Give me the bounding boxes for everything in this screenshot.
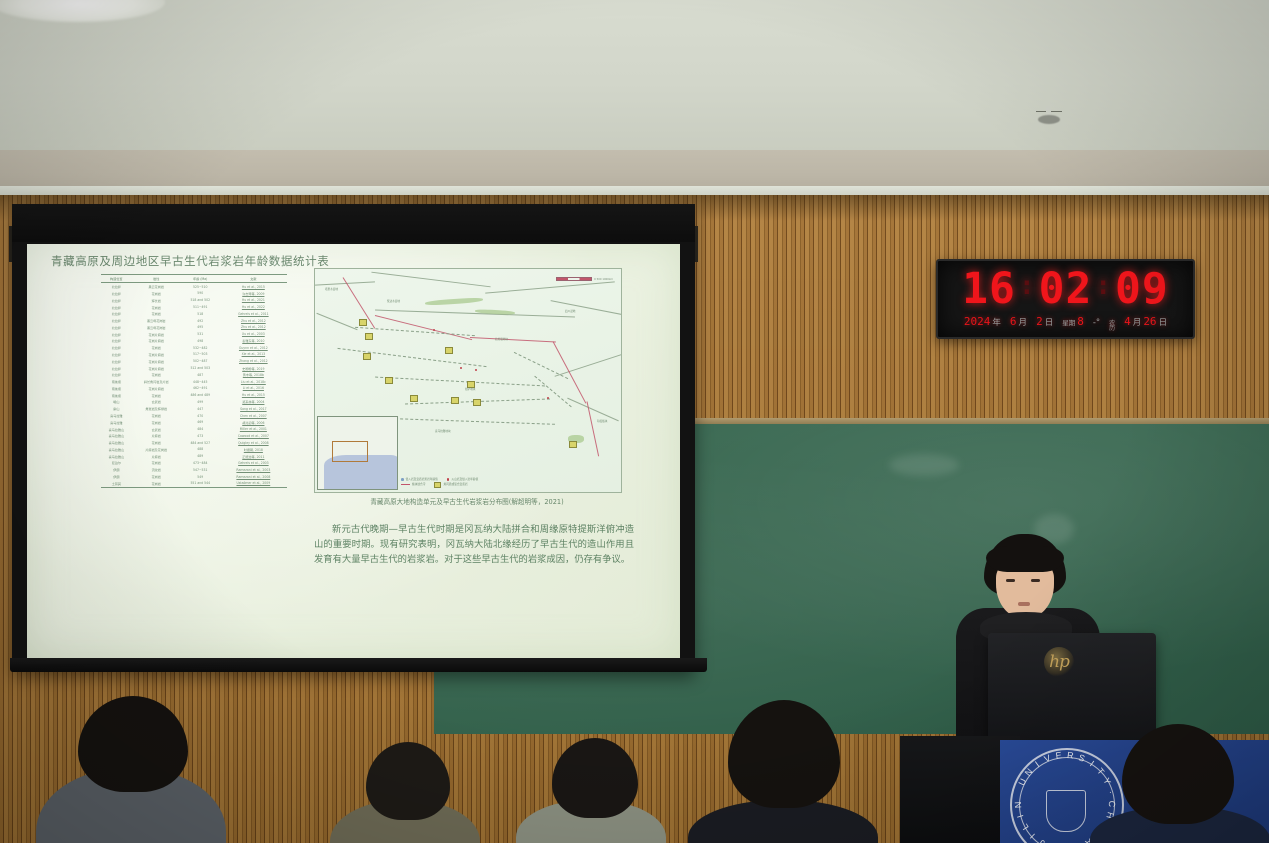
cell-reference: Hu et al., 2021 <box>220 297 287 304</box>
cell-lithology: 花岗岩 <box>132 480 181 487</box>
cell-reference: 郑来林等, 2004 <box>220 399 287 406</box>
cell-lithology: 花岗岩 <box>132 412 181 419</box>
cell-location: 北拉萨 <box>101 338 132 345</box>
cell-lithology: 黑云花岗岩 <box>132 283 181 290</box>
seal-letter: T <box>1095 766 1107 777</box>
clock-weekday-label: 星期 <box>1062 317 1075 327</box>
col-header-age: 年龄 (Ma) <box>181 275 220 283</box>
cell-reference: Zhu et al., 2012 <box>220 324 287 331</box>
cell-age: 486 and 489 <box>181 392 220 399</box>
clock-lunar-month: 4 <box>1124 315 1131 328</box>
ceiling <box>0 0 1269 150</box>
screen-bottom-bar <box>10 658 707 672</box>
table-row: 喜马拉雅山片麻岩489正能治等, 2011 <box>101 453 287 460</box>
map-inset-locator <box>317 416 398 490</box>
legend-square-icon <box>434 482 441 488</box>
clock-lunar-label: 农 历 <box>1109 321 1115 332</box>
cell-location: 土耳其 <box>101 480 132 487</box>
cell-lithology: 花岗岩 <box>132 392 181 399</box>
cell-age: 484 <box>181 426 220 433</box>
seal-letter: I <box>1015 813 1026 819</box>
cell-age: 549 <box>181 473 220 480</box>
cell-reference: Gehrels et al., 2003 <box>220 460 287 467</box>
table-row: 喜马拉雅花岗岩469胡兆初等, 2006 <box>101 419 287 426</box>
cell-age: 470 <box>181 412 220 419</box>
presenter-eye-right <box>1031 579 1040 582</box>
cell-age: 517~503 <box>181 351 220 358</box>
seal-letter: S <box>1077 752 1087 764</box>
presenter-mouth <box>1018 602 1030 606</box>
cell-reference: Hu et al., 2022 <box>220 304 287 311</box>
cell-lithology: 花岗片麻岩 <box>132 365 181 372</box>
clock-hours: 16 <box>962 264 1016 314</box>
cell-reference: Zhu et al., 2012 <box>220 317 287 324</box>
cell-lithology: 黑云母花岗岩 <box>132 317 181 324</box>
hp-logo-icon: hp <box>1044 647 1074 677</box>
clock-lunar-day: 26 <box>1143 315 1156 328</box>
table-body: 北拉萨黑云花岗岩525~510Hu et al., 2015北拉萨花岗岩590许… <box>101 283 287 487</box>
cell-location: 喜马拉雅山 <box>101 453 132 460</box>
clock-colon-icon: : <box>1019 271 1036 301</box>
cell-location: 喜马拉雅山 <box>101 446 132 453</box>
cell-lithology: 黑云母花岗岩 <box>132 324 181 331</box>
legend-item: 板块缝合带 <box>401 482 425 488</box>
cell-reference: Ramezani et al., 2008 <box>220 473 287 480</box>
clock-seconds: 09 <box>1115 264 1169 314</box>
cell-lithology: 辉长岩 <box>132 297 181 304</box>
seal-letter: L <box>1019 821 1031 831</box>
cell-reference: Cawood et al., 2007 <box>220 432 287 439</box>
cell-location: 北拉萨 <box>101 365 132 372</box>
clock-minutes: 02 <box>1039 264 1093 314</box>
legend-item: 角闪质或混合变质岩 <box>434 482 467 488</box>
cell-lithology: 玄武岩 <box>132 426 181 433</box>
table-row: 察山角斑岩及辉绿岩447Song et al., 2017 <box>101 405 287 412</box>
table-row: 北拉萨花岗岩518Gehrels et al., 2011 <box>101 310 287 317</box>
cell-age: 551 and 544 <box>181 480 220 487</box>
table-row: 喜马拉雅花岗岩470Chen et al., 2007 <box>101 412 287 419</box>
cell-age: 495 <box>181 324 220 331</box>
map-label-region: 四川盆地 <box>565 309 575 313</box>
clock-lunar-month-unit: 月 <box>1133 316 1142 328</box>
cell-reference: Hu et al., 2015 <box>220 283 287 290</box>
cell-lithology: 花岗片麻岩 <box>132 331 181 338</box>
clock-time-display: 16 : 02 : 09 <box>938 264 1193 314</box>
table-row: 喜马拉雅山片麻岩473Cawood et al., 2007 <box>101 432 287 439</box>
seal-letter: I <box>1027 831 1036 841</box>
cell-lithology: 片麻岩及花岗岩 <box>132 446 181 453</box>
seal-letter: N <box>1023 766 1035 778</box>
cell-location: 南羌塘 <box>101 392 132 399</box>
cell-location: 喜马拉雅山 <box>101 426 132 433</box>
cell-reference: Liu et al., 2018c <box>220 378 287 385</box>
cell-age: 448~445 <box>181 378 220 385</box>
cell-location: 北拉萨 <box>101 283 132 290</box>
cell-age: 498 <box>181 338 220 345</box>
cell-location: 南羌塘 <box>101 385 132 392</box>
cell-lithology: 斜长角闪岩及片岩 <box>132 378 181 385</box>
cell-location: 北拉萨 <box>101 344 132 351</box>
cell-location: 喜马拉雅山 <box>101 439 132 446</box>
cell-reference: Ustaömer et al., 2009 <box>220 480 287 487</box>
cell-age: 531 <box>181 331 220 338</box>
projection-screen: 青藏高原及周边地区早古生代岩浆岩年龄数据统计表 构造位置 岩性 年龄 (Ma) … <box>12 204 695 672</box>
table-row: 北拉萨黑云母花岗岩495Zhu et al., 2012 <box>101 324 287 331</box>
seal-letter: N <box>1013 800 1023 808</box>
cell-location: 北拉萨 <box>101 297 132 304</box>
cell-lithology: 花岗岩 <box>132 344 181 351</box>
seal-letter: V <box>1043 752 1053 764</box>
slide-title: 青藏高原及周边地区早古生代岩浆岩年龄数据统计表 <box>51 253 329 269</box>
cell-age: 511~491 <box>181 304 220 311</box>
cell-reference: 黄丰等, 2018b <box>220 371 287 378</box>
cell-location: 喜马拉雅 <box>101 412 132 419</box>
clock-lunar-day-unit: 日 <box>1159 316 1168 328</box>
cell-age: 489 <box>181 453 220 460</box>
cell-location: 北拉萨 <box>101 304 132 311</box>
table-row: 南羌塘斜长角闪岩及片岩448~445Liu et al., 2018c <box>101 378 287 385</box>
cell-age: 512 and 503 <box>181 365 220 372</box>
cell-location: 北拉萨 <box>101 310 132 317</box>
cell-reference: Xie et al., 2013 <box>220 351 287 358</box>
seal-letter: J <box>1037 837 1047 843</box>
cell-lithology: 花岗片麻岩 <box>132 351 181 358</box>
clock-year-unit: 年 <box>992 316 1001 328</box>
screen-valance <box>12 204 695 242</box>
seal-letter: C <box>1107 800 1117 808</box>
presenter-eye-left <box>1006 579 1015 582</box>
table-row: 尼泊尔花岗岩473~484Gehrels et al., 2003 <box>101 460 287 467</box>
cell-lithology: 花岗岩 <box>132 460 181 467</box>
table-row: 北拉萨花岗片麻岩498秦雅东等, 2010 <box>101 338 287 345</box>
cell-lithology: 流纹岩 <box>132 466 181 473</box>
cell-location: 北拉萨 <box>101 331 132 338</box>
cell-age: 525~510 <box>181 283 220 290</box>
cell-location: 北拉萨 <box>101 358 132 365</box>
table-row: 峨山玄武岩499郑来林等, 2004 <box>101 399 287 406</box>
cell-age: 462~491 <box>181 385 220 392</box>
age-data-table: 构造位置 岩性 年龄 (Ma) 文献 北拉萨黑云花岗岩525~510Hu et … <box>101 274 287 488</box>
cell-location: 喜马拉雅山 <box>101 432 132 439</box>
cell-lithology: 花岗岩 <box>132 419 181 426</box>
cell-reference: 许志琴等, 2009 <box>220 290 287 297</box>
cell-reference: 秦雅东等, 2010 <box>220 338 287 345</box>
cell-reference: Guynn et al., 2012 <box>220 344 287 351</box>
col-header-location: 构造位置 <box>101 275 132 283</box>
tectonic-map: 塔里木盆地 柴达木盆地 北羌塘地块 拉萨地块 喜马拉雅地块 四川盆地 印度板块 … <box>314 268 622 493</box>
map-label-region: 塔里木盆地 <box>325 287 338 291</box>
table-row: 北拉萨花岗岩487黄丰等, 2018b <box>101 371 287 378</box>
ceiling-sprinkler-icon <box>1038 110 1060 124</box>
slide-body-text: 新元古代晚期—早古生代时期是冈瓦纳大陆拼合和周缘原特提斯洋俯冲造山的重要时期。现… <box>314 522 634 567</box>
cell-reference: 正能治等, 2011 <box>220 453 287 460</box>
cell-lithology: 花岗岩 <box>132 290 181 297</box>
seal-letter: U <box>1017 776 1029 787</box>
cell-reference: 史盼盼等, 2019 <box>220 365 287 372</box>
cell-lithology: 花岗片麻岩 <box>132 385 181 392</box>
cell-age: 473 <box>181 432 220 439</box>
cell-location: 北拉萨 <box>101 371 132 378</box>
map-label-region: 北羌塘地块 <box>495 337 508 341</box>
cell-lithology: 花岗岩 <box>132 439 181 446</box>
table-header-row: 构造位置 岩性 年龄 (Ma) 文献 <box>101 275 287 283</box>
cell-reference: Quigley et al., 2008 <box>220 439 287 446</box>
cell-age: 473~484 <box>181 460 220 467</box>
cell-age: 499 <box>181 399 220 406</box>
table-row: 伊朗流纹岩547~531Ramezani et al., 2003 <box>101 466 287 473</box>
cell-reference: Zhang et al., 2012 <box>220 358 287 365</box>
clock-day: 2 <box>1036 315 1043 328</box>
cell-age: 487 <box>181 371 220 378</box>
cell-location: 察山 <box>101 405 132 412</box>
table-row: 北拉萨黑云花岗岩525~510Hu et al., 2015 <box>101 283 287 290</box>
table-row: 北拉萨花岗片麻岩531Xu et al., 2003 <box>101 331 287 338</box>
cell-age: 488 <box>181 446 220 453</box>
table-head: 构造位置 岩性 年龄 (Ma) 文献 <box>101 275 287 283</box>
legend-suture-line-icon <box>401 484 410 487</box>
map-scale-bar: 0 500 1000km <box>554 277 613 281</box>
lecture-hall-scene: 青藏高原及周边地区早古生代岩浆岩年龄数据统计表 构造位置 岩性 年龄 (Ma) … <box>0 0 1269 843</box>
cell-reference: 胡兆初等, 2006 <box>220 419 287 426</box>
map-label-region: 柴达木盆地 <box>387 299 400 303</box>
seal-letter: I <box>1088 759 1097 769</box>
cell-location: 峨山 <box>101 399 132 406</box>
cell-age: 502~487 <box>181 358 220 365</box>
table-row: 北拉萨花岗岩511~491Hu et al., 2022 <box>101 304 287 311</box>
seal-letter: E <box>1055 750 1063 761</box>
table-row: 北拉萨花岗片麻岩512 and 503史盼盼等, 2019 <box>101 365 287 372</box>
table-row: 北拉萨黑云母花岗岩492Zhu et al., 2012 <box>101 317 287 324</box>
cell-age: 484 and 527 <box>181 439 220 446</box>
cell-location: 尼泊尔 <box>101 460 132 467</box>
cell-age: 492 <box>181 317 220 324</box>
cell-reference: Chen et al., 2007 <box>220 412 287 419</box>
table-row: 喜马拉雅山玄武岩484Miller et al., 2001 <box>101 426 287 433</box>
cell-lithology: 花岗岩 <box>132 304 181 311</box>
legend-dot-icon <box>401 478 404 481</box>
clock-day-unit: 日 <box>1045 316 1054 328</box>
cell-age: 532~482 <box>181 344 220 351</box>
table-row: 喜马拉雅山片麻岩及花岗岩488时振朝, 2018 <box>101 446 287 453</box>
cell-reference: 时振朝, 2018 <box>220 446 287 453</box>
cell-location: 喜马拉雅 <box>101 419 132 426</box>
cell-reference: Gehrels et al., 2011 <box>220 310 287 317</box>
table-row: 南羌塘花岗岩486 and 489Hu et al., 2015 <box>101 392 287 399</box>
cell-age: 518 and 502 <box>181 297 220 304</box>
digital-wall-clock: 16 : 02 : 09 2024 年 6 月 2 日 星期 8 -° 农 历 <box>936 259 1195 339</box>
table-row: 北拉萨花岗岩532~482Guynn et al., 2012 <box>101 344 287 351</box>
legend-dot-red-icon <box>447 478 450 481</box>
cell-lithology: 片麻岩 <box>132 432 181 439</box>
table-row: 北拉萨辉长岩518 and 502Hu et al., 2021 <box>101 297 287 304</box>
clock-month: 6 <box>1010 315 1017 328</box>
table-row: 北拉萨花岗岩590许志琴等, 2009 <box>101 290 287 297</box>
cell-age: 447 <box>181 405 220 412</box>
cell-location: 北拉萨 <box>101 324 132 331</box>
map-label-region: 印度板块 <box>597 419 607 423</box>
cell-location: 北拉萨 <box>101 317 132 324</box>
map-label-region: 拉萨地块 <box>465 387 475 391</box>
seal-letter: R <box>1067 750 1076 761</box>
table-row: 北拉萨花岗片麻岩502~487Zhang et al., 2012 <box>101 358 287 365</box>
cell-location: 伊朗 <box>101 473 132 480</box>
seal-letter: I <box>1033 759 1042 769</box>
table-row: 土耳其花岗岩551 and 544Ustaömer et al., 2009 <box>101 480 287 487</box>
cell-reference: Ramezani et al., 2003 <box>220 466 287 473</box>
cell-location: 伊朗 <box>101 466 132 473</box>
cell-lithology: 片麻岩 <box>132 453 181 460</box>
clock-year: 2024 <box>964 315 991 328</box>
cell-reference: Xu et al., 2003 <box>220 331 287 338</box>
map-label-region: 喜马拉雅地块 <box>435 429 451 433</box>
cell-lithology: 花岗岩 <box>132 371 181 378</box>
cell-lithology: 玄武岩 <box>132 399 181 406</box>
computer-monitor[interactable]: hp <box>988 633 1156 743</box>
cell-lithology: 角斑岩及辉绿岩 <box>132 405 181 412</box>
map-legend: 侵入岩及变质岩浆岩年龄值 火山岩及侵入岩年龄值 板块缝合带 <box>401 477 611 488</box>
col-header-reference: 文献 <box>220 275 287 283</box>
cell-reference: Miller et al., 2001 <box>220 426 287 433</box>
cell-age: 469 <box>181 419 220 426</box>
cell-location: 北拉萨 <box>101 290 132 297</box>
cell-lithology: 花岗片麻岩 <box>132 358 181 365</box>
cell-reference: Song et al., 2017 <box>220 405 287 412</box>
table-row: 伊朗花岗岩549Ramezani et al., 2008 <box>101 473 287 480</box>
cell-lithology: 花岗岩 <box>132 310 181 317</box>
cell-lithology: 花岗片麻岩 <box>132 338 181 345</box>
cell-reference: Hu et al., 2015 <box>220 392 287 399</box>
cell-reference: Li et al., 2016 <box>220 385 287 392</box>
presenter-fringe <box>986 546 1064 572</box>
clock-temperature: -° <box>1093 318 1100 328</box>
table-row: 北拉萨花岗片麻岩517~503Xie et al., 2013 <box>101 351 287 358</box>
map-caption: 青藏高原大地构造单元及早古生代岩浆岩分布图(解超明等，2021) <box>314 496 620 506</box>
col-header-lithology: 岩性 <box>132 275 181 283</box>
cell-age: 518 <box>181 310 220 317</box>
presentation-slide: 青藏高原及周边地区早古生代岩浆岩年龄数据统计表 构造位置 岩性 年龄 (Ma) … <box>27 244 680 658</box>
clock-weekday-value: 8 <box>1077 315 1084 328</box>
clock-colon-icon: : <box>1095 271 1112 301</box>
cell-location: 北拉萨 <box>101 351 132 358</box>
soffit-edge-trim <box>0 186 1269 195</box>
seal-letter: Y <box>1101 776 1113 787</box>
clock-date-display: 2024 年 6 月 2 日 星期 8 -° 农 历 4 月 26 日 <box>938 315 1193 332</box>
cell-age: 590 <box>181 290 220 297</box>
ceiling-light-fixture <box>0 0 165 22</box>
table-row: 南羌塘花岗片麻岩462~491Li et al., 2016 <box>101 385 287 392</box>
seal-letter: · <box>1106 790 1117 796</box>
table-row: 喜马拉雅山花岗岩484 and 527Quigley et al., 2008 <box>101 439 287 446</box>
cell-age: 547~531 <box>181 466 220 473</box>
university-shield-icon <box>1046 790 1086 832</box>
cell-lithology: 花岗岩 <box>132 473 181 480</box>
clock-month-unit: 月 <box>1019 316 1028 328</box>
cell-location: 南羌塘 <box>101 378 132 385</box>
